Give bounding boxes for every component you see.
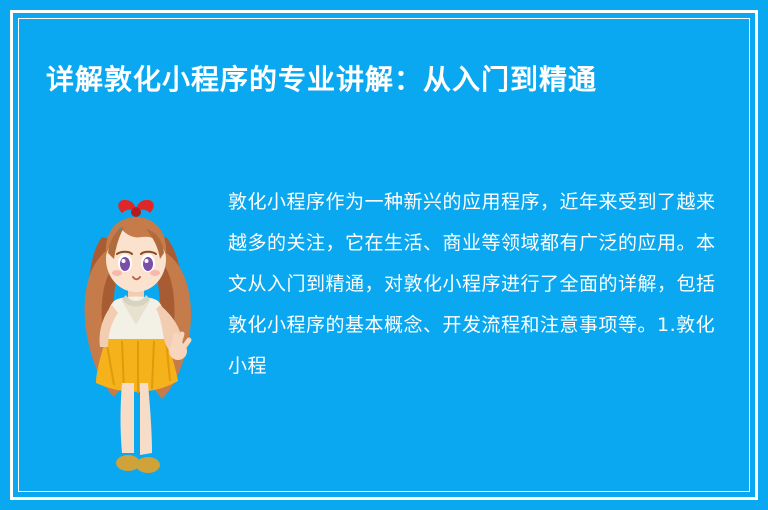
page-title: 详解敦化小程序的专业讲解：从入门到精通 bbox=[46, 58, 722, 102]
illustration-anime-girl bbox=[62, 175, 212, 485]
article-body: 敦化小程序作为一种新兴的应用程序，近年来受到了越来越多的关注，它在生活、商业等领… bbox=[228, 182, 724, 387]
article-card: 详解敦化小程序的专业讲解：从入门到精通 bbox=[0, 0, 768, 510]
